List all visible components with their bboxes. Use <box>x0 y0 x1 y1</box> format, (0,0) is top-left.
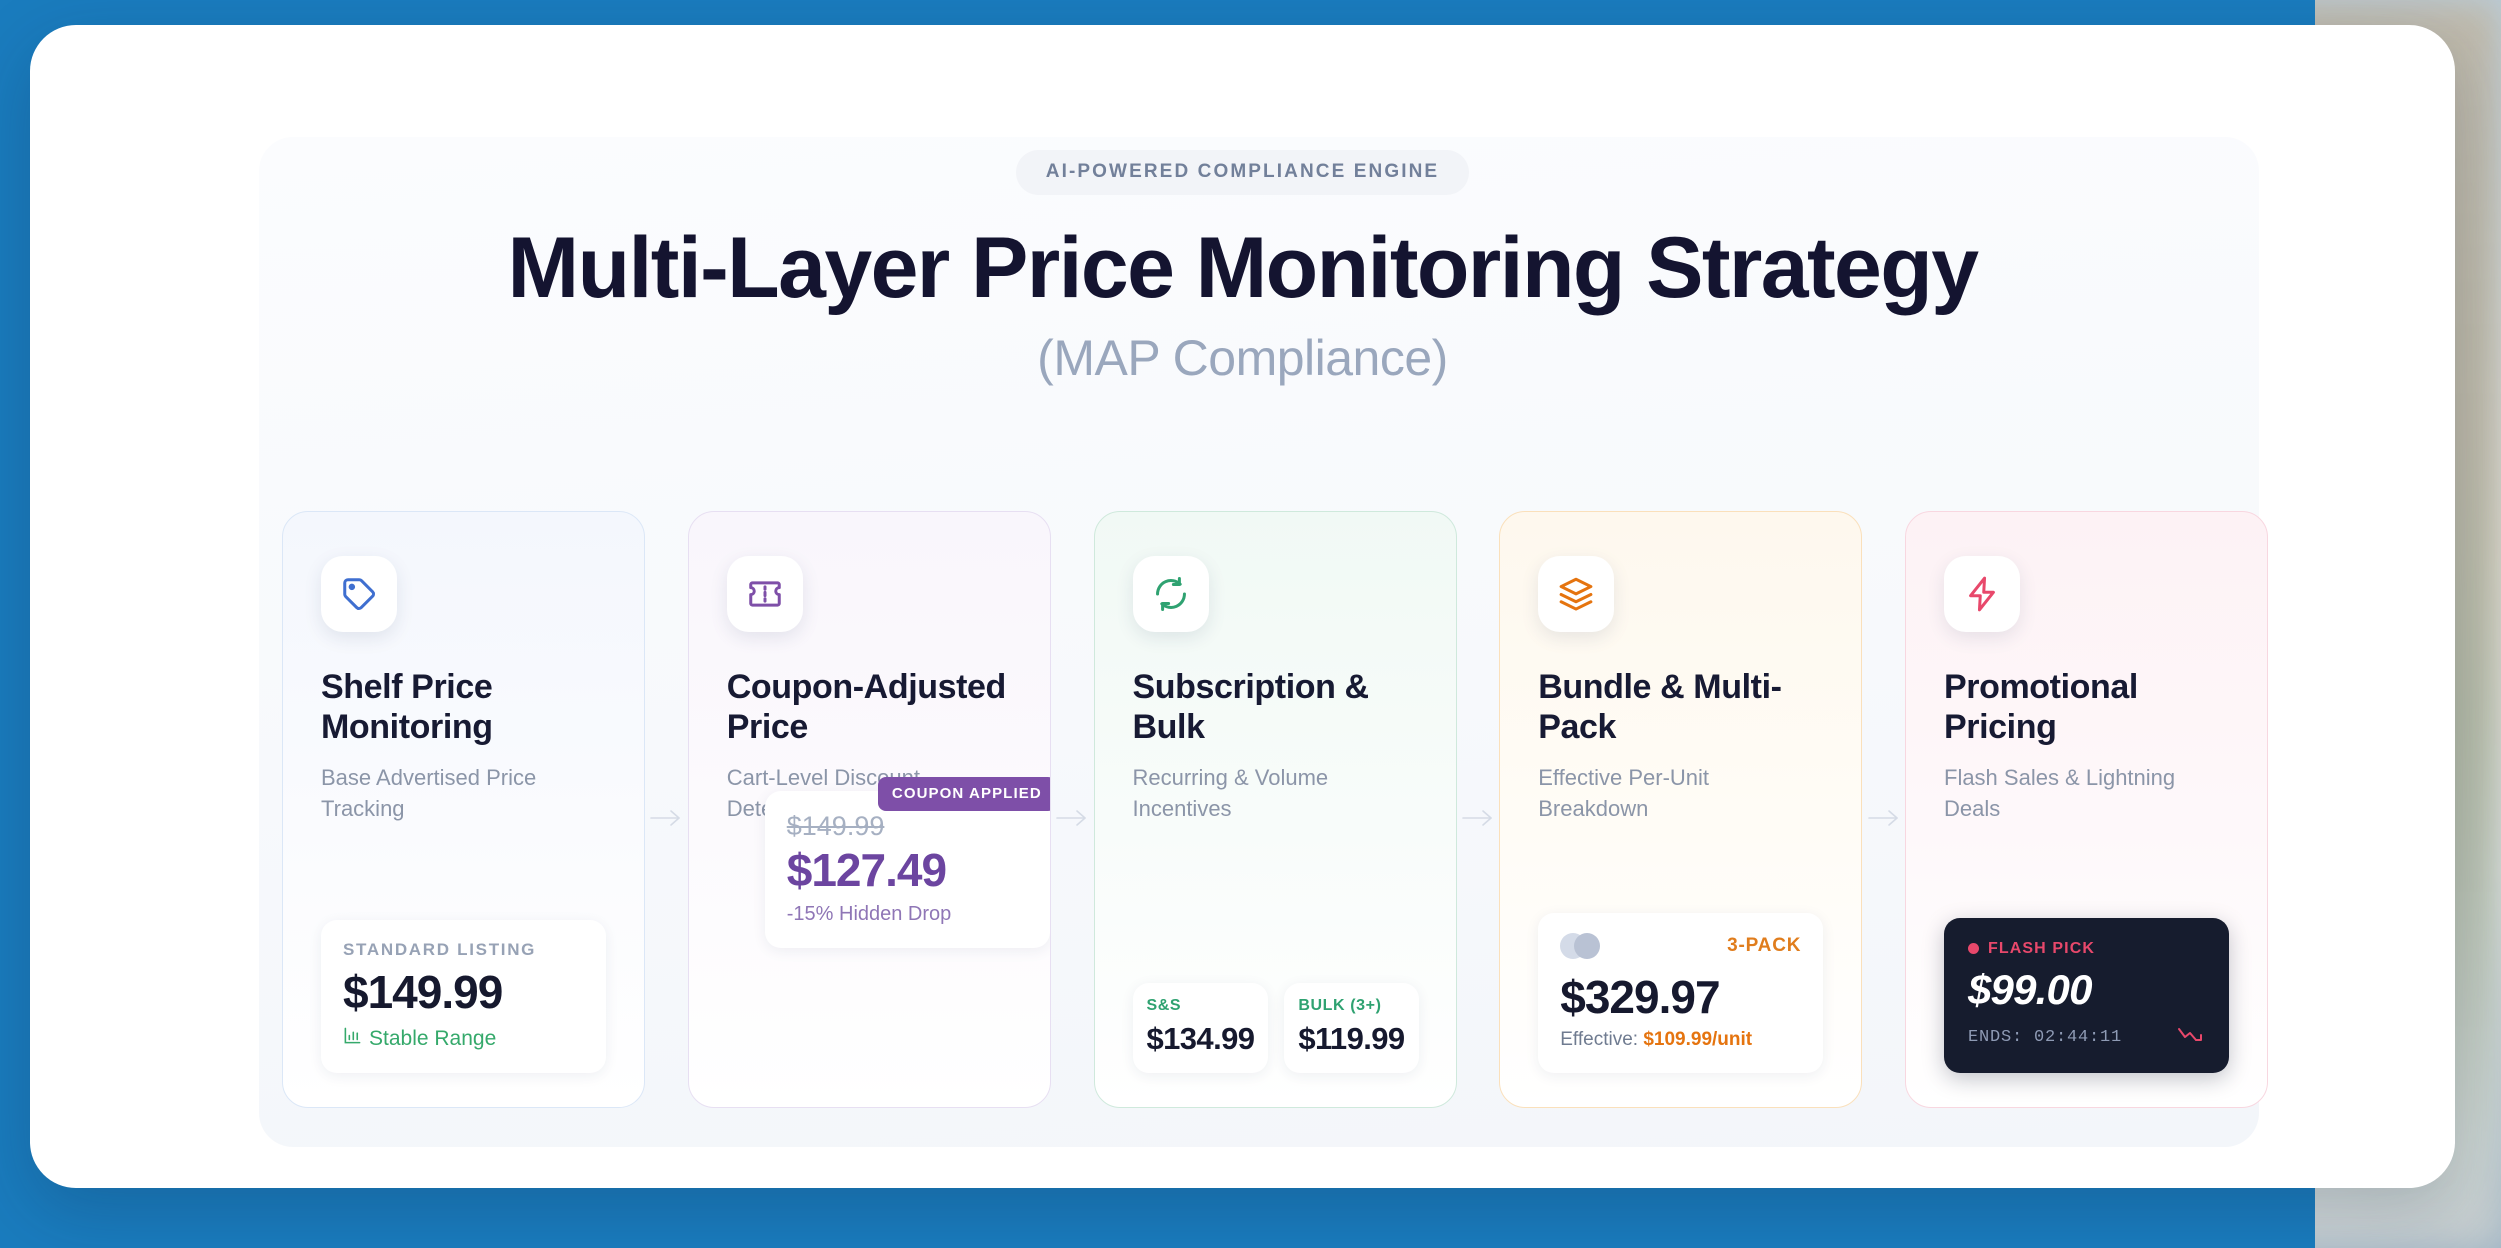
connector-1-2 <box>645 511 688 1108</box>
card-title: Subscription & Bulk <box>1133 668 1418 748</box>
pricing-option-group: S&S $134.99 BULK (3+) $119.99 <box>1133 983 1418 1073</box>
flash-pick-badge: FLASH PICK <box>1968 940 2205 958</box>
card-subscription-and-bulk[interactable]: Subscription & Bulk Recurring & Volume I… <box>1094 511 1457 1108</box>
stable-range-badge: Stable Range <box>343 1026 584 1051</box>
flash-price: $99.00 <box>1968 968 2205 1012</box>
countdown-timer: ENDS: 02:44:11 <box>1968 1028 2122 1047</box>
chevron-right-icon <box>649 807 683 829</box>
lightning-bolt-icon <box>1944 556 2020 632</box>
bundle-header: 3-PACK <box>1560 933 1801 959</box>
price-panel: COUPON APPLIED $149.99 $127.49 -15% Hidd… <box>765 791 1050 947</box>
coupon-price: $127.49 <box>787 846 1028 894</box>
price-panel: FLASH PICK $99.00 ENDS: 02:44:11 <box>1944 918 2229 1073</box>
page-title: Multi-Layer Price Monitoring Strategy <box>30 225 2455 313</box>
effective-label: Effective: <box>1560 1029 1638 1050</box>
price-tag-icon <box>321 556 397 632</box>
layers-stack-icon <box>1538 556 1614 632</box>
flash-deal-box: FLASH PICK $99.00 ENDS: 02:44:11 <box>1944 918 2229 1073</box>
eyebrow-badge: AI-POWERED COMPLIANCE ENGINE <box>1016 150 1469 195</box>
coupon-price-box: $149.99 $127.49 -15% Hidden Drop <box>765 791 1050 947</box>
option-label: BULK (3+) <box>1298 997 1404 1015</box>
connector-4-5 <box>1862 511 1905 1108</box>
bundle-price-box: 3-PACK $329.97 Effective: $109.99/unit <box>1538 913 1823 1073</box>
standard-listing-box: STANDARD LISTING $149.99 Stable Range <box>321 920 606 1073</box>
card-shelf-price-monitoring[interactable]: Shelf Price Monitoring Base Advertised P… <box>282 511 645 1108</box>
bulk-option[interactable]: BULK (3+) $119.99 <box>1284 983 1418 1073</box>
trend-down-icon <box>2177 1026 2205 1049</box>
option-price: $134.99 <box>1147 1021 1255 1057</box>
connector-3-4 <box>1457 511 1500 1108</box>
effective-unit-price: Effective: $109.99/unit <box>1560 1029 1801 1051</box>
refresh-cycle-icon <box>1133 556 1209 632</box>
chevron-right-icon <box>1867 807 1901 829</box>
effective-value: $109.99/unit <box>1643 1029 1752 1050</box>
option-label: S&S <box>1147 997 1255 1015</box>
status-dot-icon <box>1968 943 1979 954</box>
card-subtitle: Recurring & Volume Incentives <box>1133 762 1418 826</box>
strategy-card-row: Shelf Price Monitoring Base Advertised P… <box>282 511 2268 1111</box>
header: AI-POWERED COMPLIANCE ENGINE Multi-Layer… <box>30 25 2455 387</box>
chevron-right-icon <box>1055 807 1089 829</box>
flash-pick-label: FLASH PICK <box>1988 940 2095 958</box>
page-backdrop: AI-POWERED COMPLIANCE ENGINE Multi-Layer… <box>0 0 2501 1248</box>
coupon-applied-badge: COUPON APPLIED <box>878 777 1051 811</box>
card-promotional-pricing[interactable]: Promotional Pricing Flash Sales & Lightn… <box>1905 511 2268 1108</box>
card-bundle-multi-pack[interactable]: Bundle & Multi-Pack Effective Per-Unit B… <box>1499 511 1862 1108</box>
price-panel: STANDARD LISTING $149.99 Stable Range <box>321 920 606 1073</box>
app-surface: AI-POWERED COMPLIANCE ENGINE Multi-Layer… <box>30 25 2455 1188</box>
bar-chart-icon <box>343 1026 362 1051</box>
card-title: Bundle & Multi-Pack <box>1538 668 1823 748</box>
card-title: Shelf Price Monitoring <box>321 668 606 748</box>
price-panel: 3-PACK $329.97 Effective: $109.99/unit <box>1538 913 1823 1073</box>
original-price: $149.99 <box>787 811 1028 842</box>
card-title: Coupon-Adjusted Price <box>727 668 1012 748</box>
card-subtitle: Flash Sales & Lightning Deals <box>1944 762 2229 826</box>
card-coupon-adjusted-price[interactable]: Coupon-Adjusted Price Cart-Level Discoun… <box>688 511 1051 1108</box>
subscribe-save-option[interactable]: S&S $134.99 <box>1133 983 1269 1073</box>
listing-price: $149.99 <box>343 968 584 1016</box>
chevron-right-icon <box>1461 807 1495 829</box>
coupon-ticket-icon <box>727 556 803 632</box>
price-panel: S&S $134.99 BULK (3+) $119.99 <box>1133 983 1418 1073</box>
pack-size-tag: 3-PACK <box>1727 935 1801 957</box>
flash-footer: ENDS: 02:44:11 <box>1968 1026 2205 1049</box>
page-subtitle: (MAP Compliance) <box>30 329 2455 387</box>
card-subtitle: Effective Per-Unit Breakdown <box>1538 762 1823 826</box>
option-price: $119.99 <box>1298 1021 1404 1057</box>
card-subtitle: Base Advertised Price Tracking <box>321 762 606 826</box>
stacked-units-icon <box>1560 933 1612 959</box>
stable-range-label: Stable Range <box>369 1027 496 1051</box>
bundle-price: $329.97 <box>1560 973 1801 1021</box>
card-title: Promotional Pricing <box>1944 668 2229 748</box>
listing-label: STANDARD LISTING <box>343 940 584 960</box>
hidden-drop-note: -15% Hidden Drop <box>787 903 1028 926</box>
connector-2-3 <box>1051 511 1094 1108</box>
